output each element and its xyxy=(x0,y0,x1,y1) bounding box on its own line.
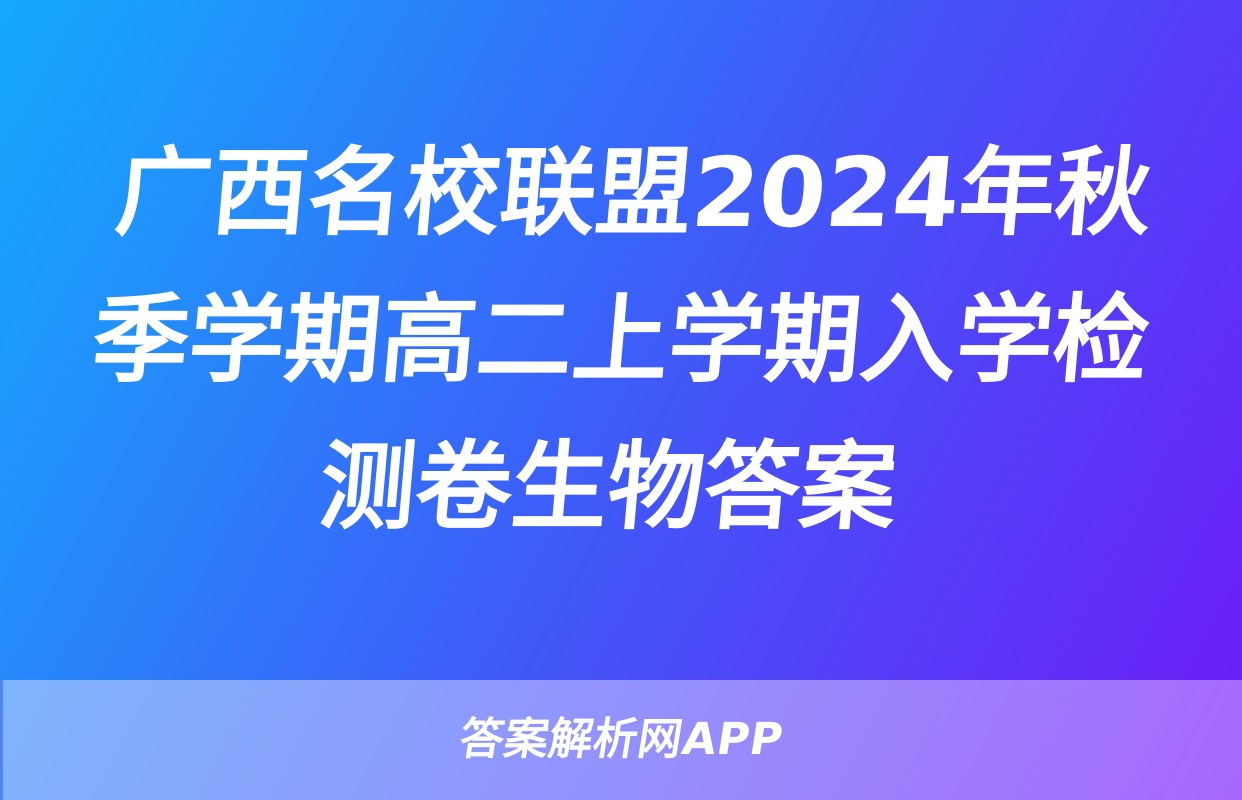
app-watermark-label: 答案解析网APP xyxy=(456,716,786,764)
footer-watermark-band: 答案解析网APP xyxy=(0,680,1242,800)
hero-gradient-panel: 广西名校联盟2024年秋 季学期高二上学期入学检 测卷生物答案 xyxy=(0,0,1242,680)
answer-promo-card: 广西名校联盟2024年秋 季学期高二上学期入学检 测卷生物答案 答案解析网APP xyxy=(0,0,1242,800)
page-title: 广西名校联盟2024年秋 季学期高二上学期入学检 测卷生物答案 xyxy=(22,120,1221,561)
